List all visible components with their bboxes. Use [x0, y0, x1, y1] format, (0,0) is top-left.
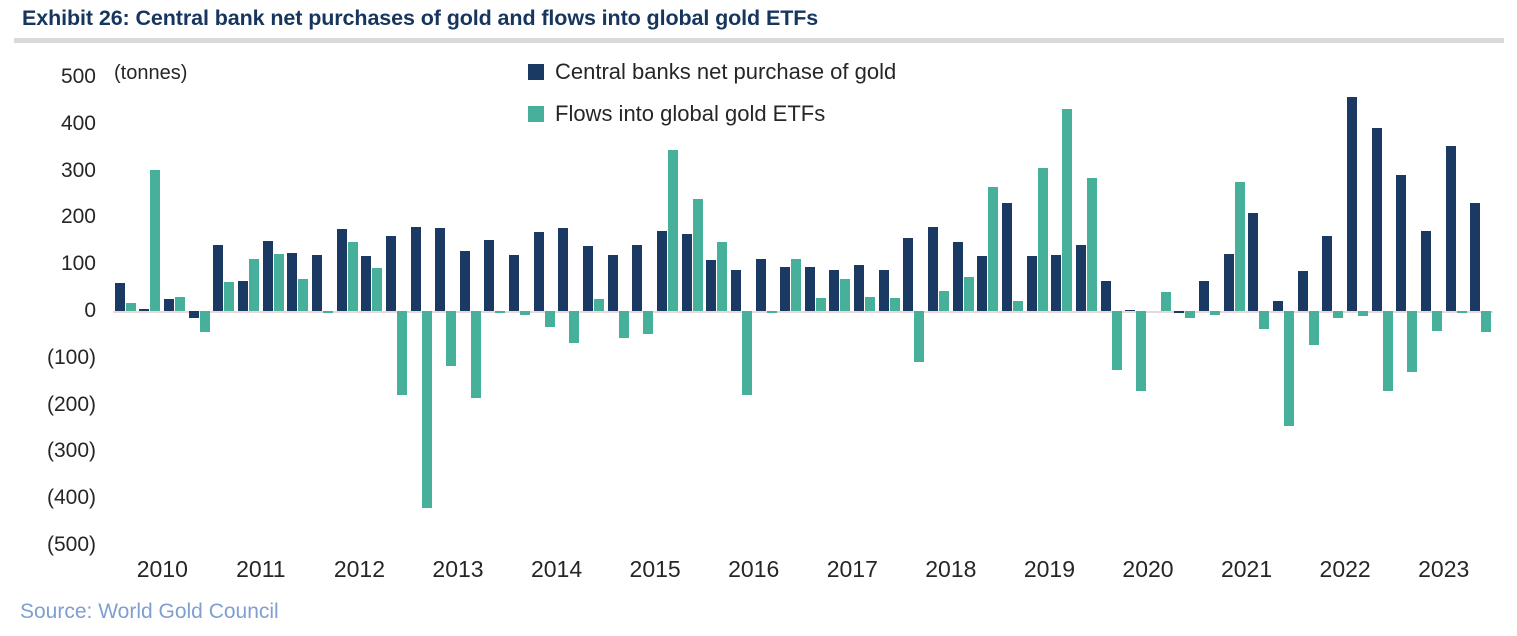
bar-2023Q4-etf-flows — [1481, 311, 1491, 332]
x-axis-tick-2020: 2020 — [1122, 556, 1173, 583]
bar-2012Q2-etf-flows — [348, 242, 358, 311]
source-note: Source: World Gold Council — [20, 600, 279, 624]
bar-2013Q4-etf-flows — [495, 311, 505, 313]
bar-2012Q4-etf-flows — [397, 311, 407, 395]
y-axis-tick-100: 100 — [6, 252, 96, 276]
bar-2013Q3-etf-flows — [471, 311, 481, 398]
bar-2011Q4-etf-flows — [298, 279, 308, 311]
bar-2018Q1-central-banks — [903, 238, 913, 311]
bar-2015Q3-central-banks — [657, 231, 667, 311]
bar-2015Q2-etf-flows — [643, 311, 653, 334]
x-axis-tick-2019: 2019 — [1024, 556, 1075, 583]
bar-2019Q2-central-banks — [1027, 256, 1037, 311]
bar-2010Q1-etf-flows — [126, 303, 136, 311]
bar-2022Q1-etf-flows — [1309, 311, 1319, 345]
bar-2018Q4-central-banks — [977, 256, 987, 311]
bar-2018Q2-etf-flows — [939, 291, 949, 311]
bar-2022Q3-etf-flows — [1358, 311, 1368, 316]
bar-2012Q3-etf-flows — [372, 268, 382, 311]
bar-2013Q2-central-banks — [435, 228, 445, 311]
bar-2013Q1-central-banks — [411, 227, 421, 311]
bar-2019Q4-etf-flows — [1087, 178, 1097, 311]
bar-2012Q1-etf-flows — [323, 311, 333, 313]
bar-2021Q3-central-banks — [1248, 213, 1258, 311]
bar-2023Q4-central-banks — [1470, 203, 1480, 311]
plot-area — [113, 60, 1493, 546]
bar-2020Q2-etf-flows — [1136, 311, 1146, 391]
bar-2010Q3-central-banks — [164, 299, 174, 311]
bar-2011Q2-central-banks — [238, 281, 248, 311]
bar-2019Q4-central-banks — [1076, 245, 1086, 311]
bar-2018Q3-etf-flows — [964, 277, 974, 311]
bar-2022Q3-central-banks — [1347, 97, 1357, 311]
bar-2015Q4-etf-flows — [693, 199, 703, 311]
bar-2014Q1-central-banks — [509, 255, 519, 311]
bar-2017Q2-central-banks — [829, 270, 839, 311]
bar-2014Q3-central-banks — [558, 228, 568, 311]
x-axis-tick-2018: 2018 — [925, 556, 976, 583]
bar-2019Q1-central-banks — [1002, 203, 1012, 311]
y-axis-tick-400: 400 — [6, 112, 96, 136]
bar-2021Q2-central-banks — [1224, 254, 1234, 311]
bar-2022Q2-etf-flows — [1333, 311, 1343, 318]
x-axis-tick-2022: 2022 — [1320, 556, 1371, 583]
bar-2016Q2-central-banks — [731, 270, 741, 311]
bar-2013Q3-central-banks — [460, 251, 470, 311]
bar-2022Q4-etf-flows — [1383, 311, 1393, 391]
bar-2011Q4-central-banks — [287, 253, 297, 312]
bar-2013Q2-etf-flows — [446, 311, 456, 366]
x-axis-tick-2014: 2014 — [531, 556, 582, 583]
y-axis-tick-200: 200 — [6, 205, 96, 229]
bar-2019Q3-central-banks — [1051, 255, 1061, 311]
bar-2018Q3-central-banks — [953, 242, 963, 311]
bar-2023Q3-central-banks — [1446, 146, 1456, 311]
bar-2020Q1-etf-flows — [1112, 311, 1122, 370]
bar-2017Q4-etf-flows — [890, 298, 900, 311]
bar-2010Q1-central-banks — [115, 283, 125, 311]
bar-2012Q2-central-banks — [337, 229, 347, 311]
bar-2019Q1-etf-flows — [1013, 301, 1023, 311]
x-axis-tick-2023: 2023 — [1418, 556, 1469, 583]
bar-2011Q2-etf-flows — [249, 259, 259, 311]
bar-2017Q3-etf-flows — [865, 297, 875, 311]
bar-2013Q1-etf-flows — [422, 311, 432, 508]
bar-2020Q1-central-banks — [1101, 281, 1111, 311]
bar-2017Q2-etf-flows — [840, 279, 850, 311]
bar-2010Q2-etf-flows — [150, 170, 160, 311]
y-axis-tick-0: 0 — [6, 299, 96, 323]
bar-2013Q4-central-banks — [484, 240, 494, 311]
bar-2017Q4-central-banks — [879, 270, 889, 311]
bar-2023Q2-etf-flows — [1432, 311, 1442, 331]
bar-2019Q2-etf-flows — [1038, 168, 1048, 311]
bar-2014Q1-etf-flows — [520, 311, 530, 315]
x-axis-tick-2017: 2017 — [827, 556, 878, 583]
bar-2016Q1-central-banks — [706, 260, 716, 311]
bar-2014Q2-central-banks — [534, 232, 544, 311]
bar-2017Q1-central-banks — [805, 267, 815, 311]
bar-2011Q3-central-banks — [263, 241, 273, 311]
bar-2021Q4-etf-flows — [1284, 311, 1294, 426]
bar-2018Q1-etf-flows — [914, 311, 924, 362]
bar-2018Q4-etf-flows — [988, 187, 998, 311]
bar-2016Q1-etf-flows — [717, 242, 727, 311]
x-axis-tick-2013: 2013 — [432, 556, 483, 583]
bar-2021Q3-etf-flows — [1259, 311, 1269, 329]
bar-2020Q4-central-banks — [1174, 311, 1184, 313]
bar-2018Q2-central-banks — [928, 227, 938, 311]
bar-2014Q2-etf-flows — [545, 311, 555, 327]
y-axis-tick-n400n: (400) — [6, 486, 96, 510]
bar-2012Q3-central-banks — [361, 256, 371, 311]
bar-2014Q3-etf-flows — [569, 311, 579, 343]
bar-2022Q2-central-banks — [1322, 236, 1332, 311]
bar-2016Q2-etf-flows — [742, 311, 752, 395]
bar-2012Q4-central-banks — [386, 236, 396, 311]
bar-2011Q1-etf-flows — [224, 282, 234, 311]
bar-2012Q1-central-banks — [312, 255, 322, 311]
bar-2023Q1-central-banks — [1396, 175, 1406, 311]
y-axis-tick-n200n: (200) — [6, 393, 96, 417]
x-axis-tick-2016: 2016 — [728, 556, 779, 583]
bar-2016Q4-etf-flows — [791, 259, 801, 311]
bar-2015Q1-central-banks — [608, 255, 618, 311]
y-axis-tick-n500n: (500) — [6, 533, 96, 557]
bar-2023Q3-etf-flows — [1457, 311, 1467, 313]
chart-page: Exhibit 26: Central bank net purchases o… — [0, 0, 1517, 636]
x-axis-tick-2021: 2021 — [1221, 556, 1272, 583]
bar-2019Q3-etf-flows — [1062, 109, 1072, 311]
bar-2011Q1-central-banks — [213, 245, 223, 311]
bar-2022Q1-central-banks — [1298, 271, 1308, 311]
bar-2016Q3-etf-flows — [767, 311, 777, 313]
x-axis-tick-2012: 2012 — [334, 556, 385, 583]
bar-2021Q1-etf-flows — [1210, 311, 1220, 315]
y-axis-tick-n100n: (100) — [6, 346, 96, 370]
bar-2023Q1-etf-flows — [1407, 311, 1417, 372]
bar-2010Q4-etf-flows — [200, 311, 210, 332]
bar-2023Q2-central-banks — [1421, 231, 1431, 311]
x-axis-tick-2010: 2010 — [137, 556, 188, 583]
x-axis-tick-2015: 2015 — [630, 556, 681, 583]
bar-2017Q1-etf-flows — [816, 298, 826, 311]
bar-2022Q4-central-banks — [1372, 128, 1382, 311]
bar-2020Q2-central-banks — [1125, 310, 1135, 312]
bar-2020Q4-etf-flows — [1185, 311, 1195, 318]
bar-2017Q3-central-banks — [854, 265, 864, 311]
bar-2010Q4-central-banks — [189, 311, 199, 318]
y-axis-tick-300: 300 — [6, 159, 96, 183]
x-axis-tick-2011: 2011 — [236, 556, 285, 583]
bar-2010Q2-central-banks — [139, 309, 149, 311]
bar-2015Q2-central-banks — [632, 245, 642, 311]
bar-2014Q4-central-banks — [583, 246, 593, 311]
bar-2011Q3-etf-flows — [274, 254, 284, 311]
bar-2015Q3-etf-flows — [668, 150, 678, 311]
bar-2021Q2-etf-flows — [1235, 182, 1245, 311]
bar-2015Q4-central-banks — [682, 234, 692, 311]
bar-2021Q4-central-banks — [1273, 301, 1283, 311]
bar-2020Q3-etf-flows — [1161, 292, 1171, 311]
bar-2016Q4-central-banks — [780, 267, 790, 311]
y-axis-tick-500: 500 — [6, 65, 96, 89]
bar-2014Q4-etf-flows — [594, 299, 604, 311]
bar-2010Q3-etf-flows — [175, 297, 185, 311]
bar-2021Q1-central-banks — [1199, 281, 1209, 311]
bar-2016Q3-central-banks — [756, 259, 766, 311]
y-axis-tick-n300n: (300) — [6, 439, 96, 463]
bar-2015Q1-etf-flows — [619, 311, 629, 338]
